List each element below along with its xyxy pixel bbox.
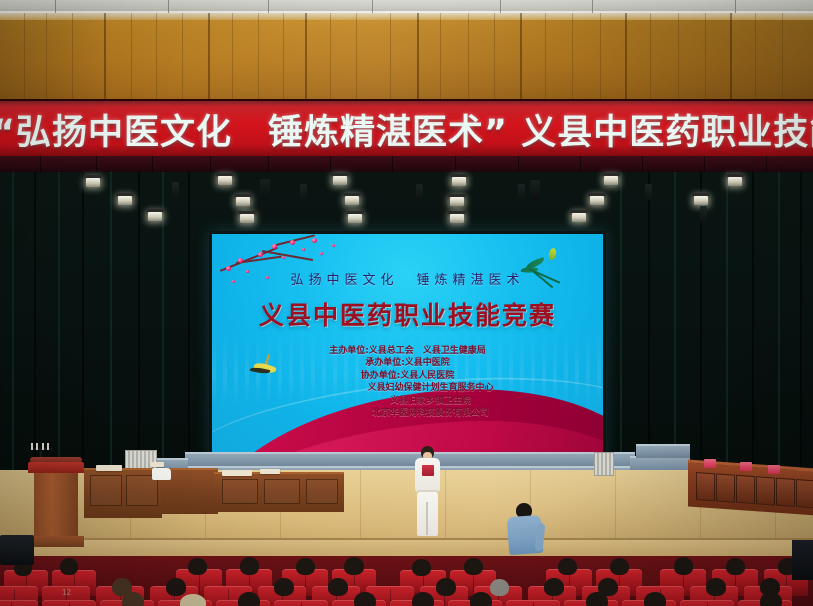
documents	[96, 465, 122, 471]
wood-panel-wall	[0, 13, 813, 102]
audience-head	[610, 558, 629, 575]
organizer-line: 承办单位:义县中医院	[212, 357, 603, 370]
event-banner-text: “弘扬中医文化 锤炼精湛医术” 义县中医药职业技能竞	[0, 104, 813, 155]
stage-light-icon	[728, 177, 742, 186]
audience-head	[470, 592, 492, 606]
organizer-line: 协办单位:义县人民医院	[212, 370, 603, 383]
audience-head	[558, 558, 577, 575]
audience-head	[726, 558, 745, 575]
radiator	[594, 452, 614, 476]
audience-head	[760, 592, 782, 606]
host-leg-gap	[426, 502, 428, 535]
judges-table-left	[84, 468, 162, 518]
slide-calligraphy-line: 弘扬中医文化 锤炼精湛医术	[212, 269, 603, 288]
name-placard	[768, 465, 780, 474]
organizer-line: 北京华医网科技股份有限公司	[212, 407, 603, 420]
organizer-line: 义县妇幼保健计划生育服务中心	[212, 382, 603, 395]
stage-light-icon	[236, 197, 250, 206]
audience-head	[344, 557, 364, 575]
ceiling	[0, 0, 813, 14]
audience-head	[60, 558, 78, 575]
red-folder	[422, 465, 434, 476]
stage-light-icon	[590, 196, 604, 205]
name-placard	[704, 459, 716, 468]
audience-head	[544, 578, 564, 596]
documents	[260, 469, 280, 474]
stage-light-icon	[452, 177, 466, 186]
audience-head	[122, 592, 144, 606]
audience-seating: 12	[0, 556, 813, 606]
stage-light-icon	[604, 176, 618, 185]
led-screen-content: 弘扬中医文化 锤炼精湛医术 义县中医药职业技能竞赛 主办单位:义县总工会 义县卫…	[212, 234, 603, 455]
slide-main-title: 义县中医药职业技能竞赛	[212, 296, 603, 332]
audience-head	[586, 592, 608, 606]
audience-head	[412, 592, 434, 606]
audience-head	[238, 592, 260, 606]
audience-head	[354, 592, 376, 606]
audience-head	[328, 578, 348, 596]
auditorium-photo: “弘扬中医文化 锤炼精湛医术” 义县中医药职业技能竞	[0, 0, 813, 606]
audience-head	[464, 558, 483, 575]
audience-head	[240, 557, 259, 575]
stage-light-icon	[450, 197, 464, 206]
event-banner: “弘扬中医文化 锤炼精湛医术” 义县中医药职业技能竞	[0, 99, 813, 161]
audience-head	[490, 579, 509, 596]
stage-light-icon	[450, 214, 464, 223]
wall-trim	[0, 13, 813, 20]
audience-head	[706, 578, 726, 596]
stage-light-icon	[345, 196, 359, 205]
organizer-line: 主办单位:义县总工会 义县卫生健康局	[212, 345, 603, 358]
stage-light-icon	[218, 176, 232, 185]
side-monitor	[0, 535, 34, 565]
audience-head	[188, 558, 207, 575]
audience-head	[412, 559, 431, 576]
stage-light-icon	[572, 213, 586, 222]
tissue-box	[152, 468, 171, 480]
side-monitor	[792, 540, 813, 580]
audience-head	[644, 592, 666, 606]
audience-head	[674, 557, 693, 575]
lectern	[28, 462, 84, 550]
audience-head	[274, 578, 294, 596]
name-placard	[740, 462, 752, 471]
organizer-line: 义县旧家乡镇卫生院	[212, 395, 603, 408]
documents	[222, 470, 252, 476]
stage-light-icon	[148, 212, 162, 221]
host-presenter	[412, 446, 442, 538]
slide-organizer-list: 主办单位:义县总工会 义县卫生健康局 承办单位:义县中医院 协办单位:义县人民医…	[212, 345, 603, 420]
seat-number: 12	[62, 588, 71, 597]
stage-light-icon	[694, 196, 708, 205]
documents	[150, 462, 164, 467]
stage-light-icon	[333, 176, 347, 185]
stage-light-icon	[348, 214, 362, 223]
attendee-arm	[535, 523, 546, 552]
led-screen: 弘扬中医文化 锤炼精湛医术 义县中医药职业技能竞赛 主办单位:义县总工会 义县卫…	[209, 231, 606, 458]
audience-head	[436, 578, 456, 596]
stage-light-icon	[86, 178, 100, 187]
stage-light-icon	[118, 196, 132, 205]
judges-table-left	[214, 472, 344, 512]
audience-head	[296, 558, 315, 575]
audience-head	[166, 578, 186, 596]
stage-light-icon	[240, 214, 254, 223]
audience-hat	[180, 594, 206, 606]
